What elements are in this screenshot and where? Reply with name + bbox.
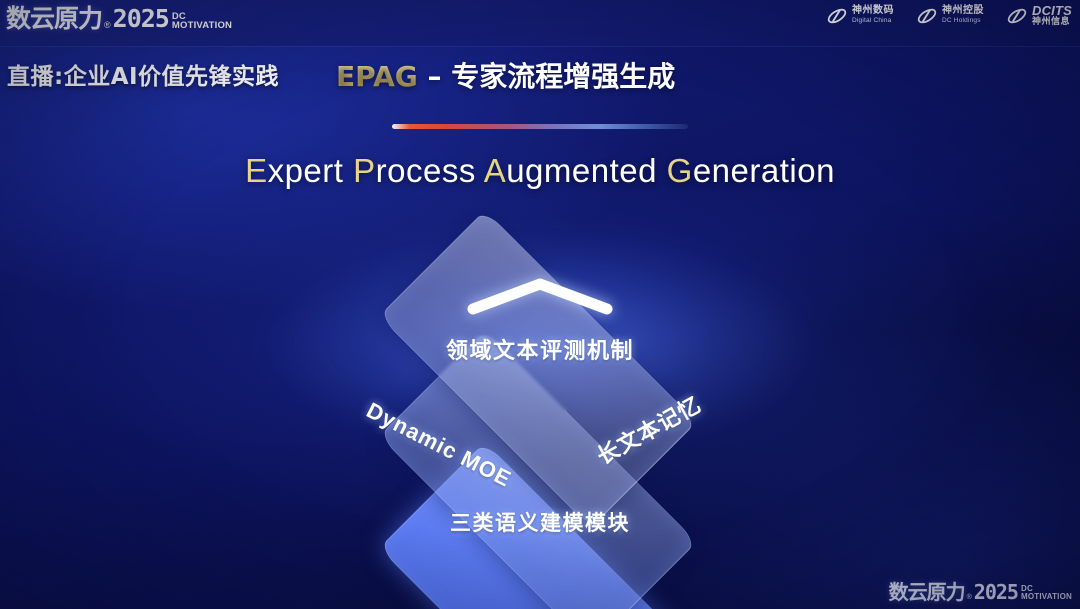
brand-name-cn: 数云原力	[6, 6, 102, 32]
partner-logo-dc-holdings: 神州控股 DC Holdings	[916, 5, 984, 27]
partner-name-en: Digital China	[852, 16, 894, 26]
header-bar: 数云原力 ® 2025 DC MOTIVATION 神州数码 Digital C…	[0, 0, 1080, 46]
subtitle-initial-e: E	[245, 152, 268, 189]
page-title-abbreviation: EPAG	[336, 60, 418, 93]
brand-year: 2025	[113, 6, 169, 32]
subtitle-initial-g: G	[667, 152, 693, 189]
partner-name-cn: 神州控股	[942, 6, 984, 16]
partner-name-en: DC Holdings	[942, 16, 984, 26]
footer-brand-name-cn: 数云原力	[889, 582, 965, 603]
footer-brand-dc-line2: MOTIVATION	[1021, 593, 1072, 601]
subtitle-word-augmented: ugmented	[506, 152, 666, 189]
subtitle-initial-p: P	[353, 152, 376, 189]
partner-logo-digital-china: 神州数码 Digital China	[826, 5, 894, 27]
live-session-title: 直播:企业AI价值先锋实践	[7, 57, 279, 91]
page-title-chinese: – 专家流程增强生成	[418, 60, 676, 93]
footer-brand-dc-motivation: DC MOTIVATION	[1021, 585, 1072, 601]
partner-name-cn: 神州数码	[852, 6, 894, 16]
title-divider	[392, 124, 688, 129]
footer-brand-registered-mark: ®	[967, 592, 972, 603]
page-subtitle: Expert Process Augmented Generation	[0, 152, 1080, 190]
subtitle-word-expert: xpert	[268, 152, 354, 189]
partner-text: DCITS 神州信息	[1032, 6, 1072, 26]
swirl-logo-icon	[1006, 5, 1028, 27]
diagram-layer-bottom-label: 三类语义建模模块	[0, 507, 1080, 537]
subtitle-word-process: rocess	[376, 152, 484, 189]
partner-text: 神州控股 DC Holdings	[942, 6, 984, 26]
footer-brand-logo: 数云原力 ® 2025 DC MOTIVATION	[889, 582, 1072, 603]
brand-dc-line2: MOTIVATION	[172, 21, 232, 30]
swirl-logo-icon	[826, 5, 848, 27]
chevron-up-icon	[465, 276, 615, 316]
brand-registered-mark: ®	[104, 18, 111, 32]
subtitle-word-generation: eneration	[693, 152, 835, 189]
partner-name-en: DCITS	[1032, 6, 1072, 16]
page-title: EPAG – 专家流程增强生成	[336, 55, 675, 95]
partner-logo-dcits: DCITS 神州信息	[1006, 5, 1072, 27]
swirl-logo-icon	[916, 5, 938, 27]
slide-stage: 数云原力 ® 2025 DC MOTIVATION 神州数码 Digital C…	[0, 0, 1080, 609]
diagram-layer-top-label: 领域文本评测机制	[0, 333, 1080, 365]
partner-text: 神州数码 Digital China	[852, 6, 894, 26]
partner-logos: 神州数码 Digital China 神州控股 DC Holdings	[826, 5, 1072, 27]
footer-brand-year: 2025	[974, 582, 1018, 603]
brand-dc-motivation: DC MOTIVATION	[172, 12, 232, 30]
partner-name-cn: 神州信息	[1032, 16, 1072, 26]
event-brand-logo: 数云原力 ® 2025 DC MOTIVATION	[6, 6, 232, 32]
subtitle-initial-a: A	[484, 152, 507, 189]
